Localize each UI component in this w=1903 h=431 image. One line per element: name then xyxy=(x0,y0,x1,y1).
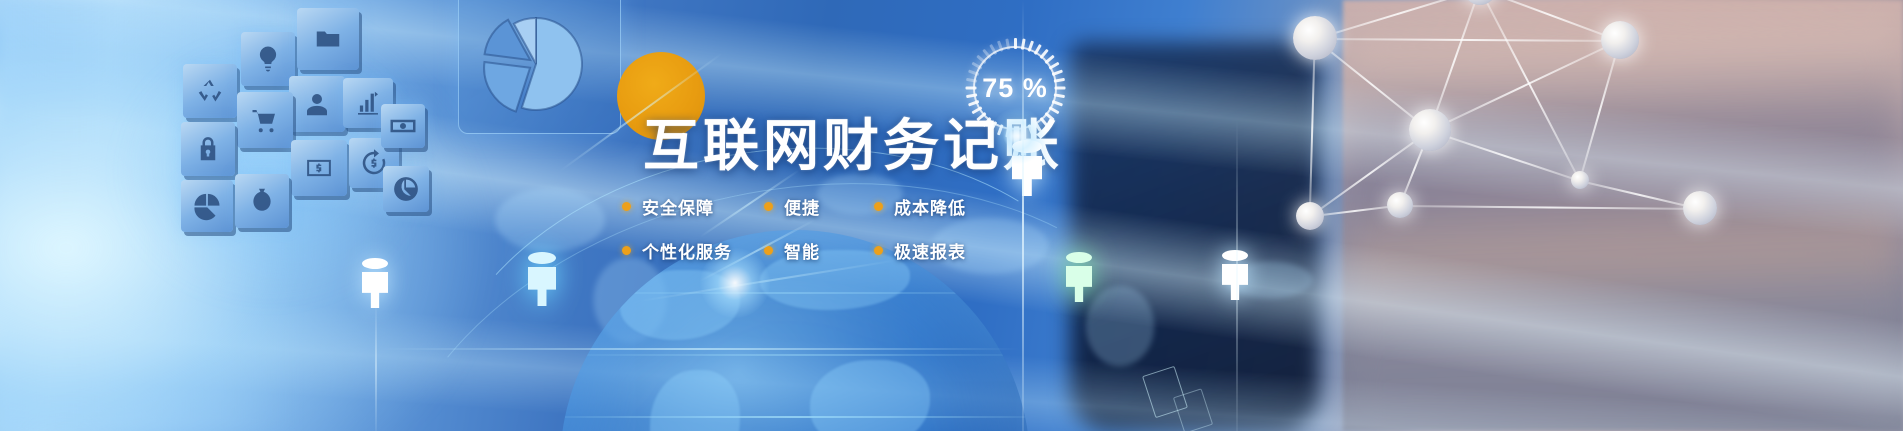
recycle-icon xyxy=(195,76,225,106)
pie-chart-icon xyxy=(192,191,222,221)
bullet-dot-icon xyxy=(764,202,773,211)
network-edge xyxy=(1315,0,1480,39)
network-node xyxy=(1293,16,1337,60)
icon-cube xyxy=(241,32,295,86)
guide-line xyxy=(375,300,377,431)
feature-row: 个性化服务 智能 极速报表 xyxy=(622,228,1042,272)
icon-cube xyxy=(383,166,429,212)
user-icon xyxy=(302,89,332,119)
network-node xyxy=(1601,21,1639,59)
icon-cube xyxy=(183,64,237,118)
feature-row: 安全保障 便捷 成本降低 xyxy=(622,184,1042,228)
guide-line xyxy=(380,348,1020,350)
coins-icon xyxy=(391,174,421,204)
light-flare xyxy=(700,248,770,318)
bullet-dot-icon xyxy=(622,202,631,211)
feature-label: 智能 xyxy=(784,238,820,263)
feature-item[interactable]: 便捷 xyxy=(764,194,874,219)
person-icon xyxy=(1066,252,1092,302)
person-icon xyxy=(528,252,556,306)
network-edge xyxy=(1315,38,1620,41)
icon-cube xyxy=(181,180,233,232)
feature-item[interactable]: 智能 xyxy=(764,238,874,263)
feature-item[interactable]: 成本降低 xyxy=(874,194,1004,219)
network-node xyxy=(1387,192,1413,218)
icon-cube xyxy=(235,174,289,228)
bar-chart-icon xyxy=(353,88,383,118)
network-edge xyxy=(1580,180,1700,209)
guide-line xyxy=(1022,0,1024,431)
network-edge xyxy=(1309,39,1315,217)
network-node xyxy=(1683,191,1717,225)
feature-label: 成本降低 xyxy=(894,194,966,219)
icon-cube-cluster xyxy=(165,0,455,280)
network-edge xyxy=(1430,40,1621,131)
lightbulb-icon xyxy=(253,44,283,74)
network-node xyxy=(1571,171,1589,189)
promo-banner: 互联网财务记账 安全保障 便捷 成本降低 个性化服务 智能 xyxy=(0,0,1903,431)
feature-label: 安全保障 xyxy=(642,194,714,219)
network-edge xyxy=(1579,41,1620,181)
icon-cube xyxy=(181,122,235,176)
money-bag-icon xyxy=(247,186,277,216)
person-icon xyxy=(1222,250,1248,300)
folder-icon xyxy=(313,24,343,54)
feature-list: 安全保障 便捷 成本降低 个性化服务 智能 极速报表 xyxy=(622,184,1042,272)
bullet-dot-icon xyxy=(622,246,631,255)
icon-cube xyxy=(297,8,359,70)
feature-label: 便捷 xyxy=(784,194,820,219)
bullet-dot-icon xyxy=(874,202,883,211)
pie-chart xyxy=(478,4,602,128)
icon-cube xyxy=(291,140,347,196)
bullet-dot-icon xyxy=(874,246,883,255)
light-flare xyxy=(990,108,1046,164)
network-node xyxy=(1409,109,1451,151)
credit-card-dollar-icon xyxy=(304,153,334,183)
money-note-icon xyxy=(388,111,418,141)
network-node xyxy=(1463,0,1497,5)
feature-label: 极速报表 xyxy=(894,238,966,263)
icon-cube xyxy=(289,76,345,132)
pie-chart-svg xyxy=(478,4,602,128)
network-edge xyxy=(1480,0,1621,41)
guide-line xyxy=(1236,120,1238,431)
network-node xyxy=(1296,202,1324,230)
icon-cube xyxy=(237,92,293,148)
lock-icon xyxy=(193,134,223,164)
shopping-cart-icon xyxy=(250,105,280,135)
network-edge xyxy=(1479,0,1580,181)
icon-cube xyxy=(381,104,425,148)
network-edge xyxy=(1400,205,1700,209)
network-nodes-graphic xyxy=(1280,0,1760,210)
